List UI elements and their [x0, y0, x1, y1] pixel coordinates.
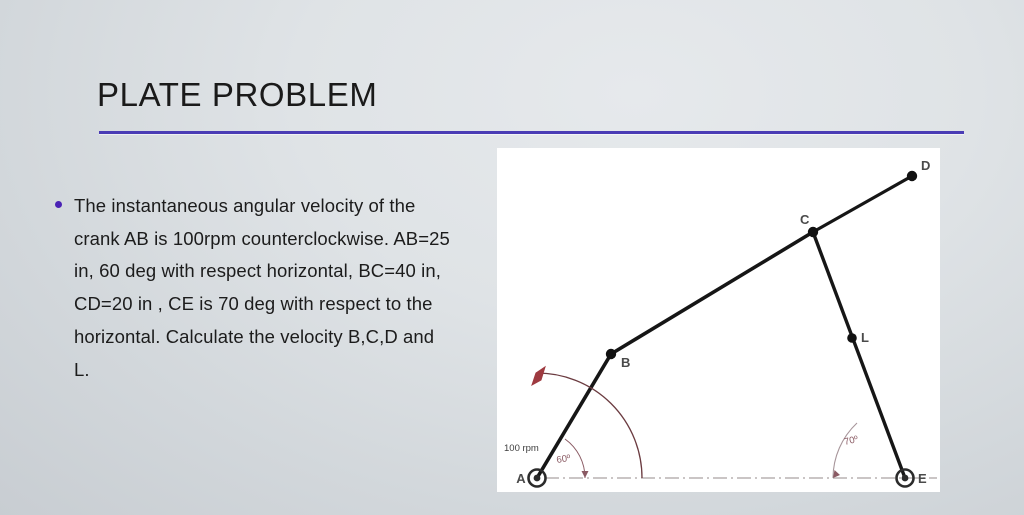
node-label-d: D	[921, 158, 930, 173]
bullet-text: The instantaneous angular velocity of th…	[74, 190, 455, 386]
angle-70-label: 70º	[843, 434, 860, 448]
rpm-annotation-label: 100 rpm	[504, 443, 539, 454]
node-label-c: C	[800, 212, 810, 227]
rotation-arrowhead-icon	[532, 367, 545, 385]
title-underline-divider	[99, 131, 964, 134]
joint-b-dot	[606, 349, 616, 359]
link-crank-ab	[537, 354, 611, 478]
mechanism-diagram: A B C D L E 100 rpm 60º 70º	[497, 148, 940, 492]
slide-canvas: PLATE PROBLEM The instantaneous angular …	[0, 0, 1024, 515]
mechanism-figure-panel: A B C D L E 100 rpm 60º 70º	[497, 148, 940, 492]
angle-60-arrowhead-icon	[582, 471, 589, 478]
node-label-b: B	[621, 355, 630, 370]
angle-arc-70	[833, 423, 857, 478]
pivot-a-bearing-icon	[529, 470, 546, 487]
joint-l-dot	[847, 333, 857, 343]
link-extension-cd	[813, 176, 912, 232]
bullet-dot-icon	[55, 201, 62, 208]
body-content: The instantaneous angular velocity of th…	[55, 190, 455, 386]
node-label-l: L	[861, 330, 869, 345]
angle-70-arrowhead-icon	[833, 470, 840, 478]
joint-c-dot	[808, 227, 818, 237]
node-label-e: E	[918, 471, 927, 486]
page-title: PLATE PROBLEM	[97, 76, 377, 114]
angle-60-label: 60º	[556, 453, 572, 466]
link-coupler-bc	[611, 232, 813, 354]
list-item: The instantaneous angular velocity of th…	[55, 190, 455, 386]
node-label-a: A	[516, 471, 526, 486]
link-rocker-ce	[813, 232, 905, 478]
joint-d-dot	[907, 171, 917, 181]
